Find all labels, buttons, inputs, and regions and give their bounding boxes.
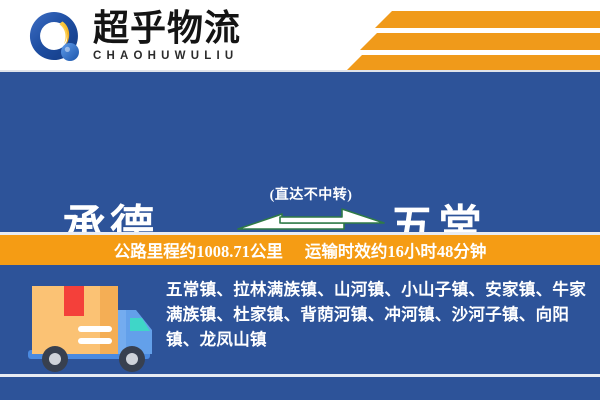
coverage-section: 五常镇、拉林满族镇、山河镇、小山子镇、安家镇、牛家满族镇、杜家镇、背荫河镇、冲河…: [0, 265, 600, 400]
brand-text-block: 超乎物流 CHAOHUWULIU: [93, 8, 283, 62]
covered-towns-list: 五常镇、拉林满族镇、山河镇、小山子镇、安家镇、牛家满族镇、杜家镇、背荫河镇、冲河…: [166, 277, 586, 352]
delivery-truck-icon: [22, 280, 160, 378]
bottom-divider: [0, 374, 600, 377]
company-logo-icon: [27, 9, 83, 65]
logistics-route-card: 超乎物流 CHAOHUWULIU 承德 (直达不中转) 【往返运输】 五常: [0, 0, 600, 400]
route-panel: 承德 (直达不中转) 【往返运输】 五常: [0, 72, 600, 232]
brand-name-cn: 超乎物流: [93, 8, 283, 48]
stats-bar: 公路里程约1008.71公里 运输时效约16小时48分钟: [0, 235, 600, 265]
header-stripe-1: [375, 11, 600, 28]
header-stripe-2: [360, 33, 600, 50]
header-bar: 超乎物流 CHAOHUWULIU: [0, 0, 600, 72]
distance-stat: 公路里程约1008.71公里: [114, 238, 283, 262]
direct-service-note: (直达不中转): [236, 184, 386, 204]
duration-stat: 运输时效约16小时48分钟: [305, 238, 487, 262]
brand-name-en: CHAOHUWULIU: [93, 50, 283, 62]
